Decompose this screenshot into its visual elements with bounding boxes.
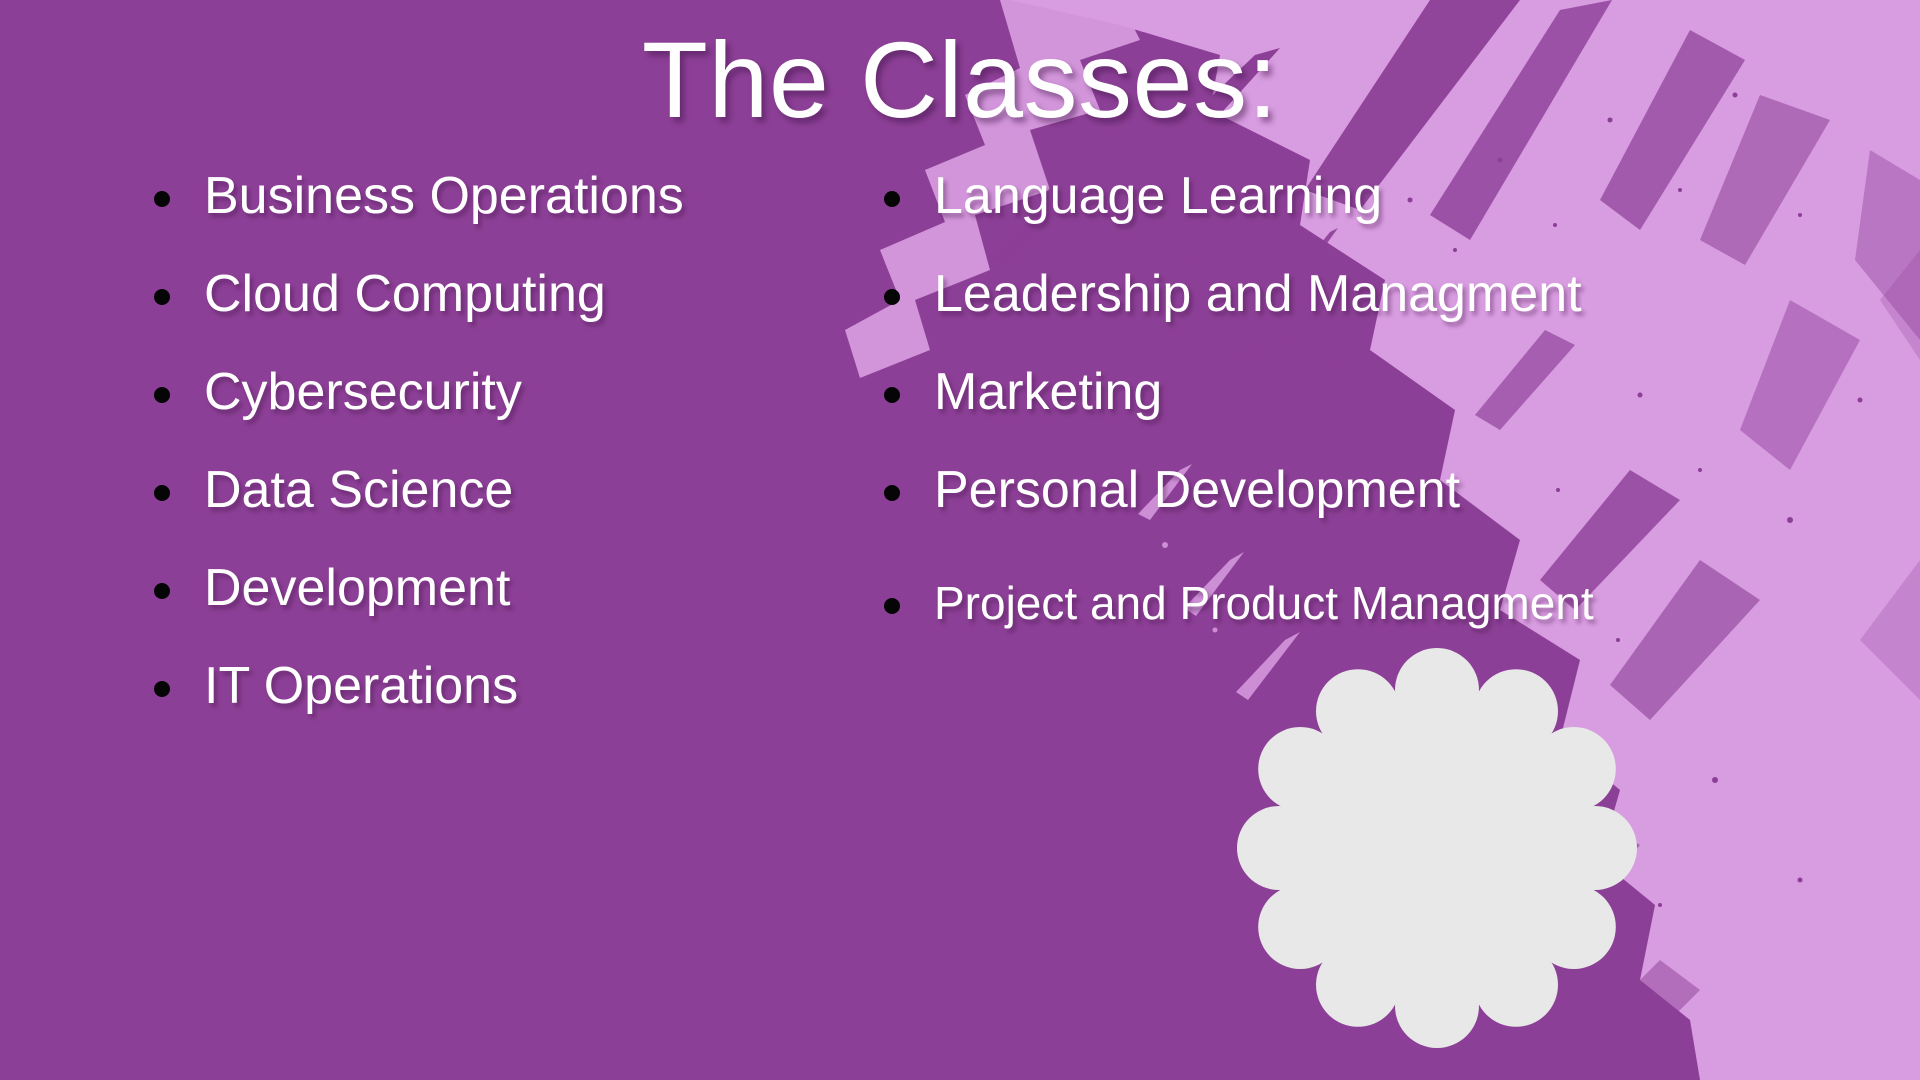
slide: The Classes: Business Operations Cloud C… [0,0,1920,1080]
bullet-icon [154,387,170,403]
scalloped-badge [1237,648,1637,1048]
class-list-right-items: Language Learning Leadership and Managme… [880,170,1890,626]
class-list-column-left: Business Operations Cloud Computing Cybe… [150,170,870,712]
list-item-label: Business Operations [204,167,684,225]
list-item: Personal Development [880,464,1890,516]
list-item: Language Learning [880,170,1890,222]
list-item-label: Data Science [204,461,513,519]
list-item-label: Leadership and Managment [934,265,1582,323]
class-list-column-right: Language Learning Leadership and Managme… [880,170,1890,626]
list-item: Marketing [880,366,1890,418]
bullet-icon [884,598,900,614]
list-item: Cybersecurity [150,366,870,418]
bullet-icon [154,191,170,207]
bullet-icon [154,681,170,697]
bullet-icon [154,583,170,599]
list-item-label: Language Learning [934,167,1382,225]
page-title: The Classes: [0,18,1920,142]
list-item: Business Operations [150,170,870,222]
list-item: Data Science [150,464,870,516]
list-item-label: IT Operations [204,657,518,715]
bullet-icon [884,387,900,403]
list-item-label: Development [204,559,510,617]
list-item: Development [150,562,870,614]
list-item: Leadership and Managment [880,268,1890,320]
list-item: Project and Product Managment [880,580,1890,626]
list-item-label: Marketing [934,363,1162,421]
list-item-label: Cloud Computing [204,265,606,323]
class-list-left-items: Business Operations Cloud Computing Cybe… [150,170,870,712]
list-item: Cloud Computing [150,268,870,320]
bullet-icon [884,289,900,305]
bullet-icon [884,191,900,207]
bullet-icon [884,485,900,501]
list-item-label: Project and Product Managment [934,577,1594,629]
list-item: IT Operations [150,660,870,712]
list-item-label: Cybersecurity [204,363,522,421]
bullet-icon [154,485,170,501]
list-item-label: Personal Development [934,461,1460,519]
bullet-icon [154,289,170,305]
